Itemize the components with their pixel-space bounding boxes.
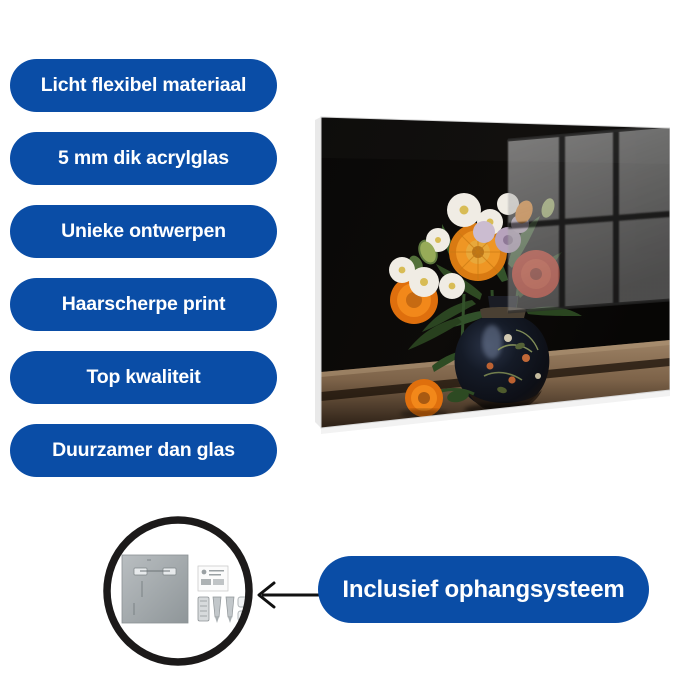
feature-badge-5-mm-dik-acrylglas[interactable]: 5 mm dik acrylglas (10, 132, 277, 185)
wall-plug (198, 597, 209, 621)
feature-badge-duurzamer-dan-glas[interactable]: Duurzamer dan glas (10, 424, 277, 477)
callout-badge-inclusief-ophangsysteem[interactable]: Inclusief ophangsysteem (318, 556, 649, 623)
feature-badge-label: Licht flexibel materiaal (41, 76, 246, 96)
feature-badge-licht-flexibel-materiaal[interactable]: Licht flexibel materiaal (10, 59, 277, 112)
product-feature-infographic: Licht flexibel materiaal 5 mm dik acrylg… (0, 0, 700, 700)
instruction-sheet (198, 566, 228, 591)
feature-badge-label: 5 mm dik acrylglas (58, 149, 229, 169)
artwork-image (312, 104, 670, 434)
feature-badge-unieke-ontwerpen[interactable]: Unieke ontwerpen (10, 205, 277, 258)
hanging-system-detail-circle (100, 513, 256, 669)
acrylic-glass-print-preview[interactable] (312, 104, 670, 434)
feature-badge-label: Top kwaliteit (86, 368, 200, 388)
feature-badge-label: Unieke ontwerpen (61, 222, 226, 242)
mounting-plate (122, 555, 188, 623)
feature-badge-list: Licht flexibel materiaal 5 mm dik acrylg… (10, 59, 277, 497)
feature-badge-label: Haarscherpe print (62, 295, 226, 315)
callout-badge-label: Inclusief ophangsysteem (342, 578, 624, 602)
feature-badge-top-kwaliteit[interactable]: Top kwaliteit (10, 351, 277, 404)
feature-badge-label: Duurzamer dan glas (52, 441, 235, 461)
artwork-illustration (312, 104, 670, 434)
feature-badge-haarscherpe-print[interactable]: Haarscherpe print (10, 278, 277, 331)
magnifier-circle-icon (100, 513, 256, 669)
panel-edge-left (315, 117, 321, 428)
